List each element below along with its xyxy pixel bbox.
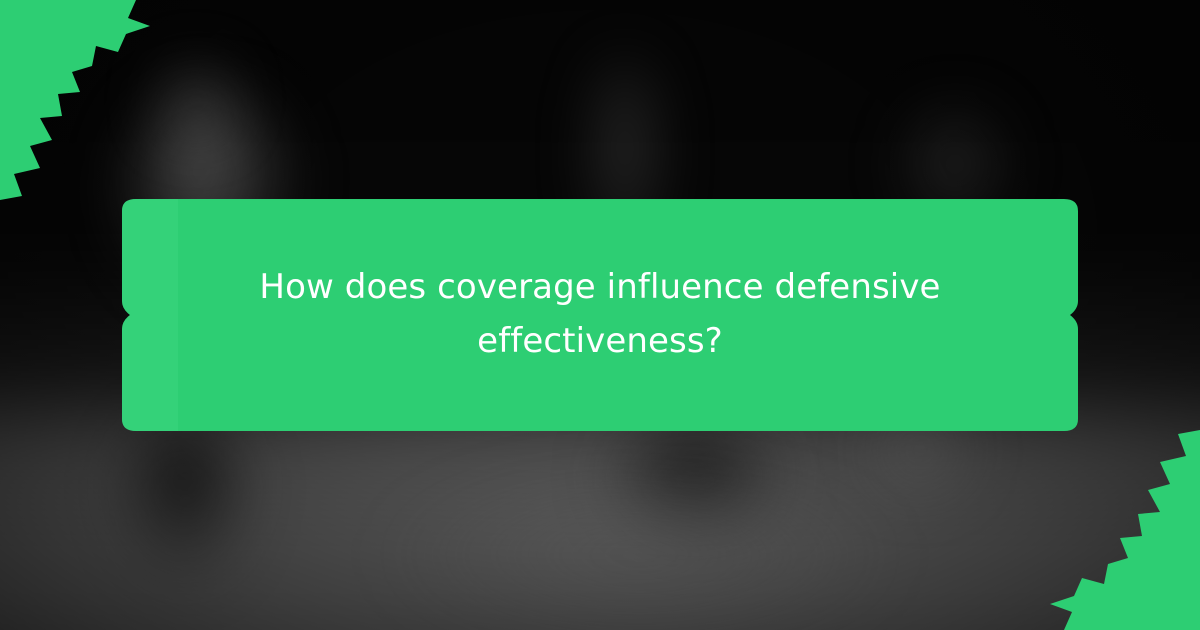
question-text: How does coverage influence defensive ef… — [108, 197, 1092, 433]
question-banner: How does coverage influence defensive ef… — [108, 197, 1092, 433]
poster-canvas: How does coverage influence defensive ef… — [0, 0, 1200, 630]
